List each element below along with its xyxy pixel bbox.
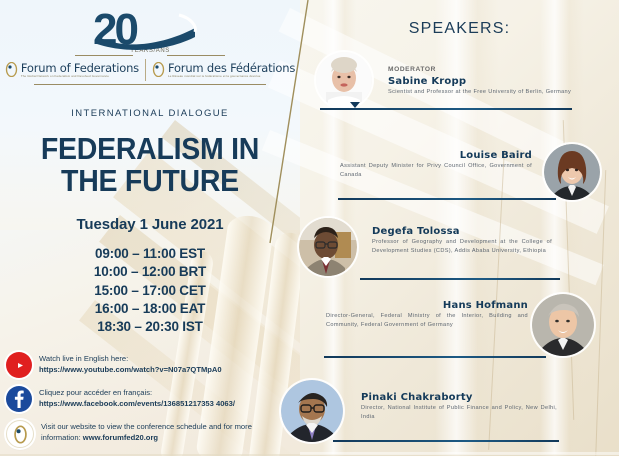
speaker-card-sabine-kropp: MODERATOR Sabine Kropp Scientist and Pro… [300, 48, 619, 120]
speaker-divider [338, 198, 556, 200]
event-times: 09:00 – 11:00 EST 10:00 – 12:00 BRT 15:0… [0, 245, 300, 336]
link-url[interactable]: www.forumfed20.org [83, 433, 158, 442]
speaker-description: Director, National Institute of Public F… [361, 404, 557, 421]
speaker-name: Louise Baird [340, 150, 532, 161]
speaker-card-degefa-tolossa: Degefa Tolossa Professor of Geography an… [300, 212, 619, 290]
time-row: 15:00 – 17:00 CET [0, 282, 300, 300]
link-url[interactable]: https://www.facebook.com/events/13685121… [39, 399, 235, 408]
speaker-description: Director-General, Federal Ministry of th… [326, 312, 528, 329]
brand-en-name: Forum of Federations [21, 62, 139, 74]
speaker-pointer-icon [350, 102, 360, 108]
speaker-card-louise-baird: Louise Baird Assistant Deputy Minister f… [300, 142, 619, 214]
speaker-text: Louise Baird Assistant Deputy Minister f… [340, 150, 532, 179]
brand-names: Forum of Federations The Global Network … [0, 59, 300, 81]
brand-separator [145, 59, 146, 81]
link-label: Watch live in English here: [39, 354, 128, 363]
speaker-divider [360, 278, 560, 280]
speaker-description: Scientist and Professor at the Free Univ… [388, 88, 574, 97]
brand-lockup: 20 YEARS/ANS Forum of Federations [0, 6, 300, 85]
event-kicker: INTERNATIONAL DIALOGUE [0, 108, 300, 119]
avatar [544, 144, 600, 200]
event-title-line1: FEDERALISM IN [12, 133, 288, 165]
speaker-divider [324, 356, 546, 358]
speaker-text: MODERATOR Sabine Kropp Scientist and Pro… [388, 58, 574, 97]
time-row: 16:00 – 18:00 EAT [0, 300, 300, 318]
links-list: Watch live in English here: https://www.… [6, 352, 271, 456]
avatar [532, 294, 594, 356]
speaker-name: Degefa Tolossa [372, 226, 552, 237]
speaker-role: MODERATOR [388, 66, 436, 73]
poster-canvas: 20 YEARS/ANS Forum of Federations [0, 0, 619, 464]
forum-mark-icon [5, 62, 18, 77]
speaker-text: Pinaki Chakraborty Director, National In… [361, 392, 557, 421]
avatar [299, 218, 357, 276]
brand-fr: Forum des Fédérations Le Réseau mondial … [152, 62, 295, 79]
event-date: Tuesday 1 June 2021 [0, 216, 300, 233]
speaker-card-pinaki-chakraborty: Pinaki Chakraborty Director, National In… [265, 378, 619, 452]
speaker-name: Pinaki Chakraborty [361, 392, 557, 403]
speaker-divider [320, 108, 572, 110]
brand-en-tagline: The Global Network on Federalism and Dev… [21, 75, 139, 78]
speakers-panel: SPEAKERS: MODERATOR Sabine Kropp [300, 0, 619, 464]
speaker-text: Degefa Tolossa Professor of Geography an… [372, 226, 552, 255]
link-text-youtube: Watch live in English here: https://www.… [39, 352, 222, 376]
event-title-line2: THE FUTURE [12, 165, 288, 197]
link-label: Cliquez pour accéder en français: [39, 388, 152, 397]
link-text-facebook: Cliquez pour accéder en français: https:… [39, 386, 235, 410]
forum-mark-icon-fr [152, 62, 165, 77]
avatar [281, 380, 343, 442]
speakers-heading: SPEAKERS: [300, 20, 619, 38]
left-panel: 20 YEARS/ANS Forum of Federations [0, 0, 300, 464]
brand-underline [34, 84, 266, 85]
link-item-youtube[interactable]: Watch live in English here: https://www.… [6, 352, 271, 378]
speaker-description: Assistant Deputy Minister for Privy Coun… [340, 162, 532, 179]
time-row: 10:00 – 12:00 BRT [0, 263, 300, 281]
forum-logo-icon[interactable] [6, 420, 34, 448]
link-url[interactable]: https://www.youtube.com/watch?v=N07a7QTM… [39, 365, 222, 374]
brand-fr-tagline: Le Réseau mondial sur le fédéralisme et … [168, 75, 295, 78]
time-row: 09:00 – 11:00 EST [0, 245, 300, 263]
link-item-website[interactable]: Visit our website to view the conference… [6, 420, 271, 448]
anniversary-20-icon: 20 [0, 6, 300, 52]
facebook-icon[interactable] [6, 386, 32, 412]
speaker-name: Hans Hofmann [326, 300, 528, 311]
brand-rule [0, 55, 300, 56]
brand-en: Forum of Federations The Global Network … [5, 62, 139, 79]
event-title: FEDERALISM IN THE FUTURE [12, 133, 288, 196]
speaker-text: Hans Hofmann Director-General, Federal M… [326, 300, 528, 329]
avatar [316, 52, 372, 108]
speaker-card-hans-hofmann: Hans Hofmann Director-General, Federal M… [300, 292, 619, 368]
speaker-name: Sabine Kropp [388, 76, 574, 87]
link-text-website: Visit our website to view the conference… [41, 420, 271, 444]
speaker-divider [333, 440, 559, 442]
time-row: 18:30 – 20:30 IST [0, 318, 300, 336]
speaker-description: Professor of Geography and Development a… [372, 238, 552, 255]
brand-fr-name: Forum des Fédérations [168, 62, 295, 74]
youtube-icon[interactable] [6, 352, 32, 378]
link-item-facebook[interactable]: Cliquez pour accéder en français: https:… [6, 386, 271, 412]
